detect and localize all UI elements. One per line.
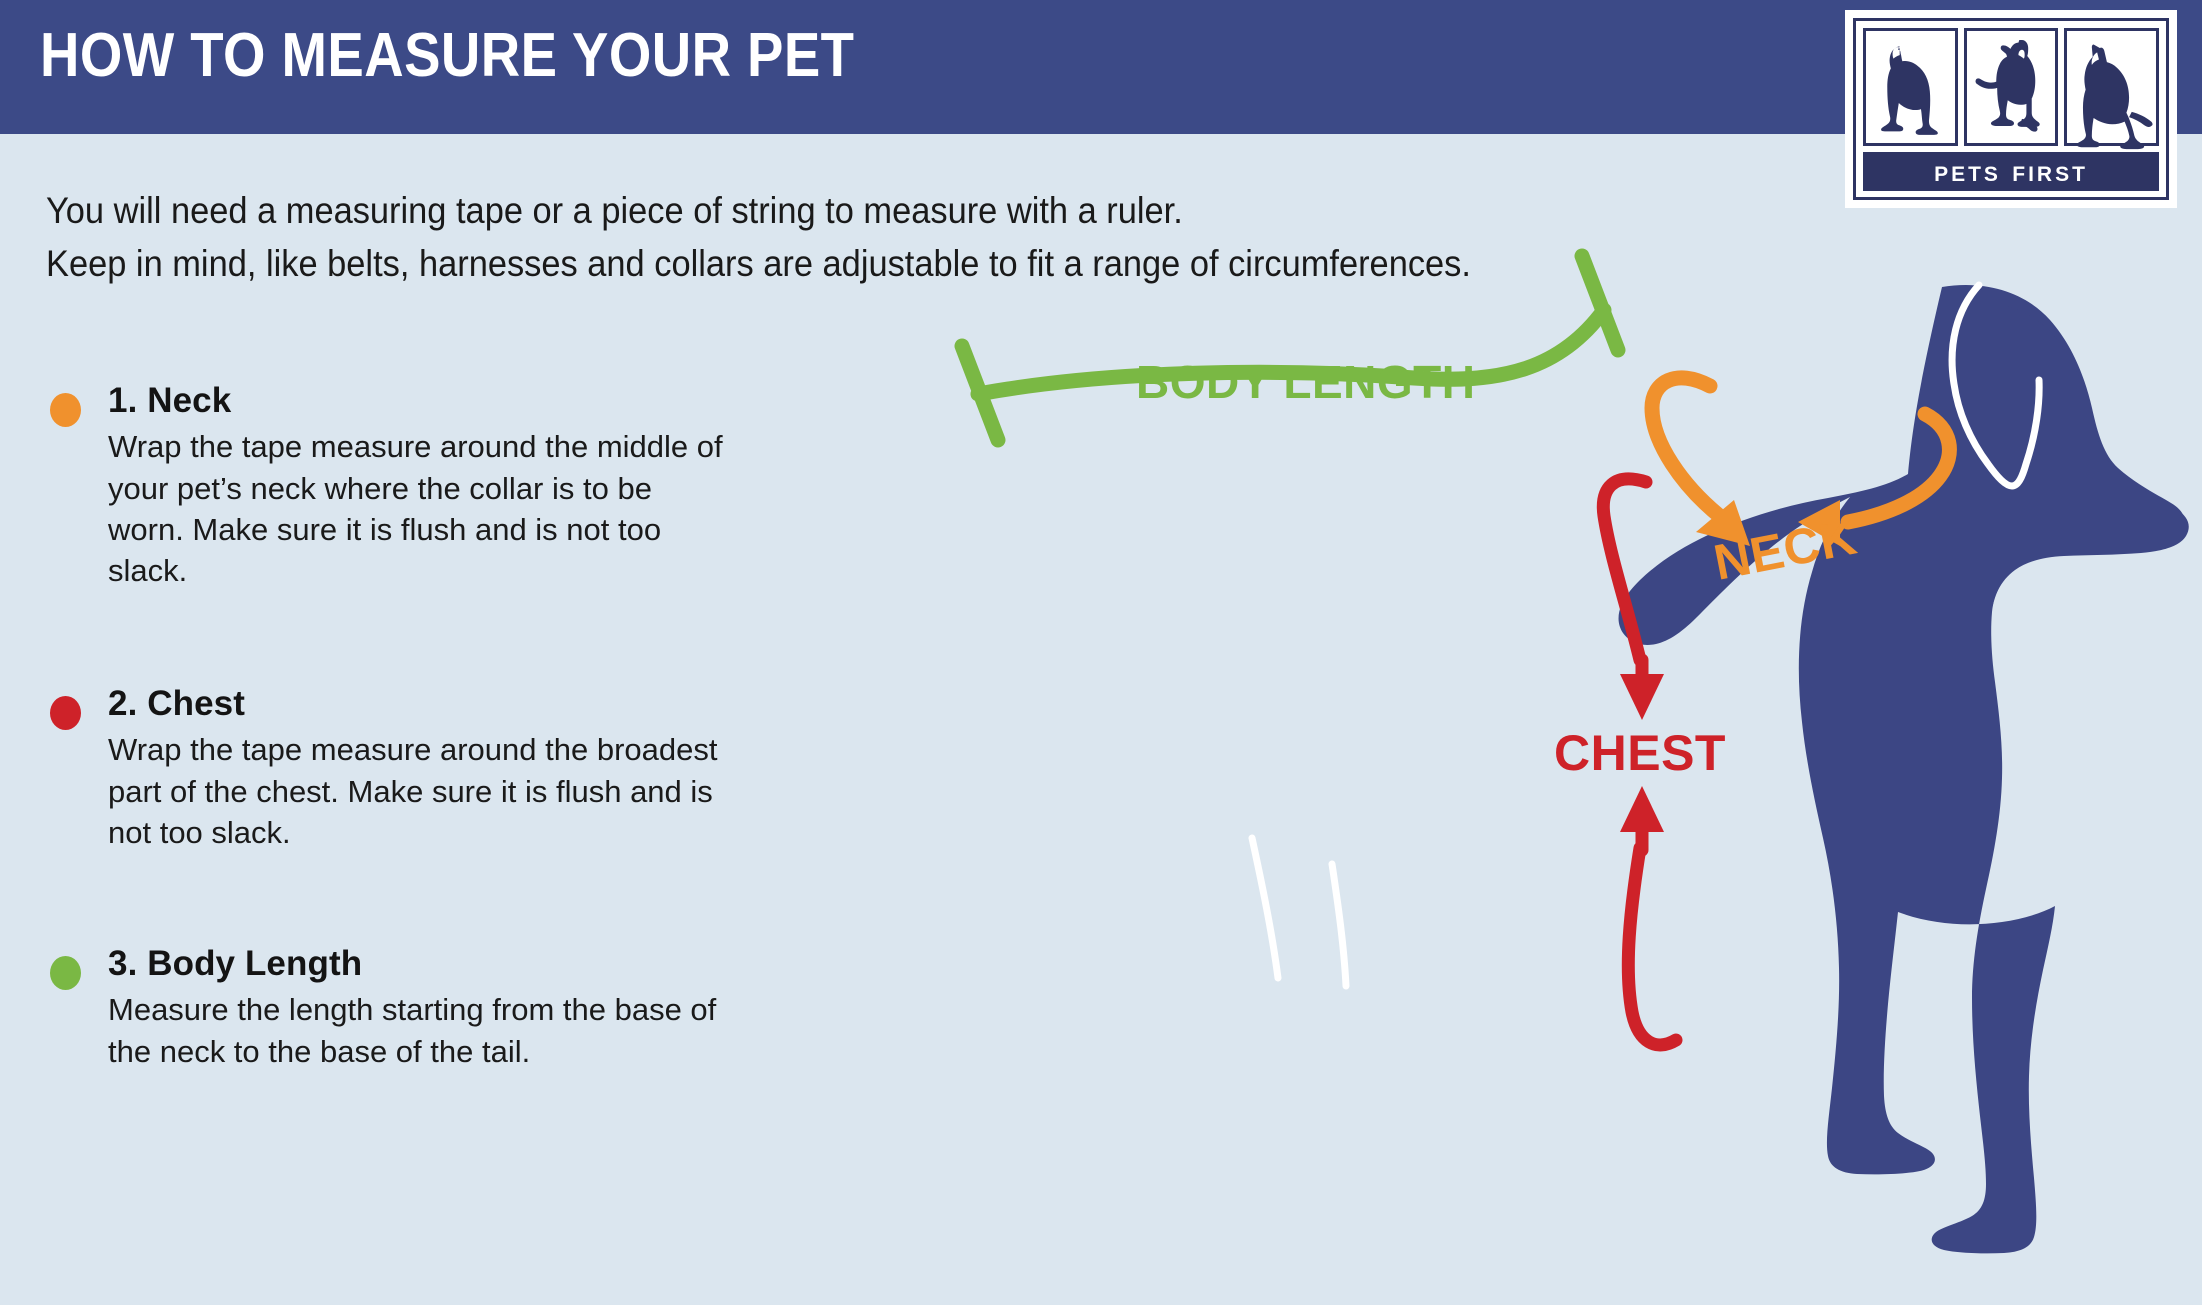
dog-shepherd-icon bbox=[2064, 28, 2159, 146]
step-body: Wrap the tape measure around the broades… bbox=[108, 729, 733, 853]
list-item: 1. Neck Wrap the tape measure around the… bbox=[46, 380, 746, 591]
measurement-steps-list: 1. Neck Wrap the tape measure around the… bbox=[46, 380, 746, 1072]
label-chest: CHEST bbox=[1554, 725, 1726, 781]
page-title: HOW TO MEASURE YOUR PET bbox=[40, 22, 854, 90]
dog-begging-icon bbox=[1964, 28, 2059, 146]
bullet-dot-icon bbox=[50, 956, 81, 990]
dog-sitting-icon bbox=[1863, 28, 1958, 146]
list-item: 3. Body Length Measure the length starti… bbox=[46, 943, 746, 1072]
bullet-dot-icon bbox=[50, 696, 81, 730]
dog-measurement-diagram: BODY LENGTH NECK bbox=[940, 250, 2202, 1305]
neck-measure-icon bbox=[1652, 378, 1949, 522]
label-body-length: BODY LENGTH bbox=[1136, 356, 1475, 408]
body-length-measure-icon bbox=[962, 256, 1618, 440]
list-item: 2. Chest Wrap the tape measure around th… bbox=[46, 683, 746, 853]
step-title: 2. Chest bbox=[108, 683, 746, 724]
brand-logo: Pets First bbox=[1845, 10, 2177, 208]
bullet-dot-icon bbox=[50, 393, 81, 427]
logo-frame: Pets First bbox=[1853, 18, 2169, 200]
logo-dog-panels bbox=[1863, 28, 2159, 146]
intro-line-1: You will need a measuring tape or a piec… bbox=[46, 185, 1627, 238]
infographic-poster: HOW TO MEASURE YOUR PET bbox=[0, 0, 2202, 1305]
logo-wordmark: Pets First bbox=[1863, 152, 2159, 191]
step-title: 3. Body Length bbox=[108, 943, 746, 984]
step-body: Wrap the tape measure around the middle … bbox=[108, 426, 733, 591]
step-title: 1. Neck bbox=[108, 380, 746, 421]
step-body: Measure the length starting from the bas… bbox=[108, 989, 733, 1071]
